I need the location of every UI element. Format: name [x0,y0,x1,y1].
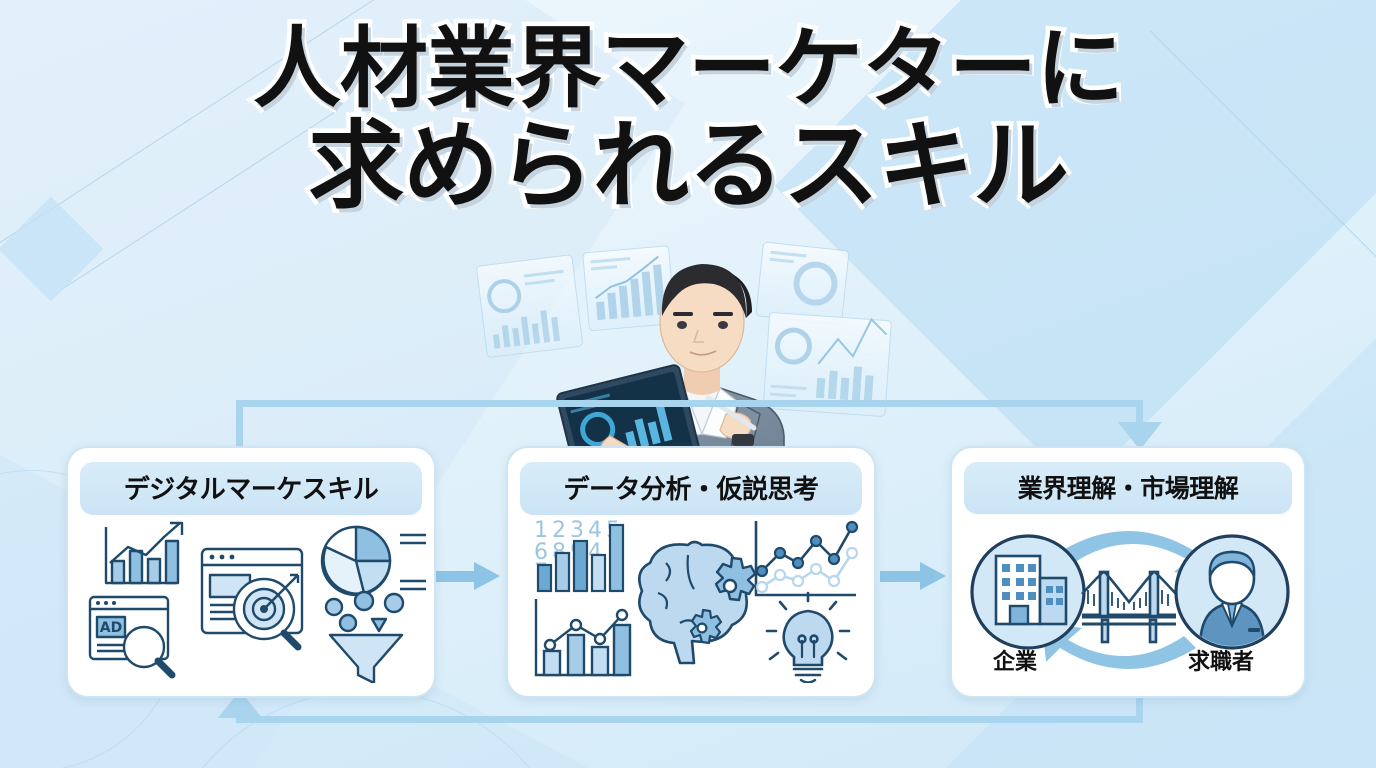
card-label-digital-marketing: デジタルマーケスキル [80,462,422,515]
brain-gears-icon [639,542,755,663]
card-label-text: データ分析・仮説思考 [563,475,818,505]
ad-banner-magnifier-icon: AD [90,597,172,675]
businessman-with-tablet-illustration [470,238,900,470]
arrow-card2-to-card3-icon [880,562,946,590]
pie-chart-icon [322,527,426,595]
card-label-text: 業界理解・市場理解 [1018,474,1239,503]
bridge-icon [1082,572,1176,642]
arrow-card1-to-card2-icon [434,562,500,590]
card-data-analysis-hypothesis[interactable]: データ分析・仮説思考 12345 6894 7 [506,446,876,698]
card-label-data-analysis: データ分析・仮説思考 [520,462,862,515]
funnel-icon [326,592,403,683]
lightbulb-icon [767,593,849,683]
card-digital-marketing-skill[interactable]: デジタルマーケスキル [66,446,436,698]
growth-bar-chart-icon [106,523,182,583]
svg-text:AD: AD [100,620,122,636]
card-body-data-analysis: 12345 6894 7 [508,515,874,683]
card-body-digital-marketing: AD [68,515,434,683]
browser-target-search-icon [202,549,302,647]
loop-arrow-top [236,400,1143,407]
card-label-industry-market: 業界理解・市場理解 [964,462,1292,514]
dual-line-chart-icon [756,521,857,595]
legend-jobseeker-label: 求職者 [1188,644,1254,676]
poster-canvas: 人材業界マーケターに 求められるスキル [0,0,1376,768]
company-building-icon [972,536,1084,648]
job-seeker-avatar-icon [1176,536,1288,648]
card-label-text: デジタルマーケスキル [124,475,378,505]
legend-company-label: 企業 [993,644,1037,676]
number-grid-bar-chart-icon: 12345 6894 7 [534,518,623,591]
bar-line-combo-chart-icon [536,599,630,675]
loop-arrow-bottom [236,716,1143,723]
